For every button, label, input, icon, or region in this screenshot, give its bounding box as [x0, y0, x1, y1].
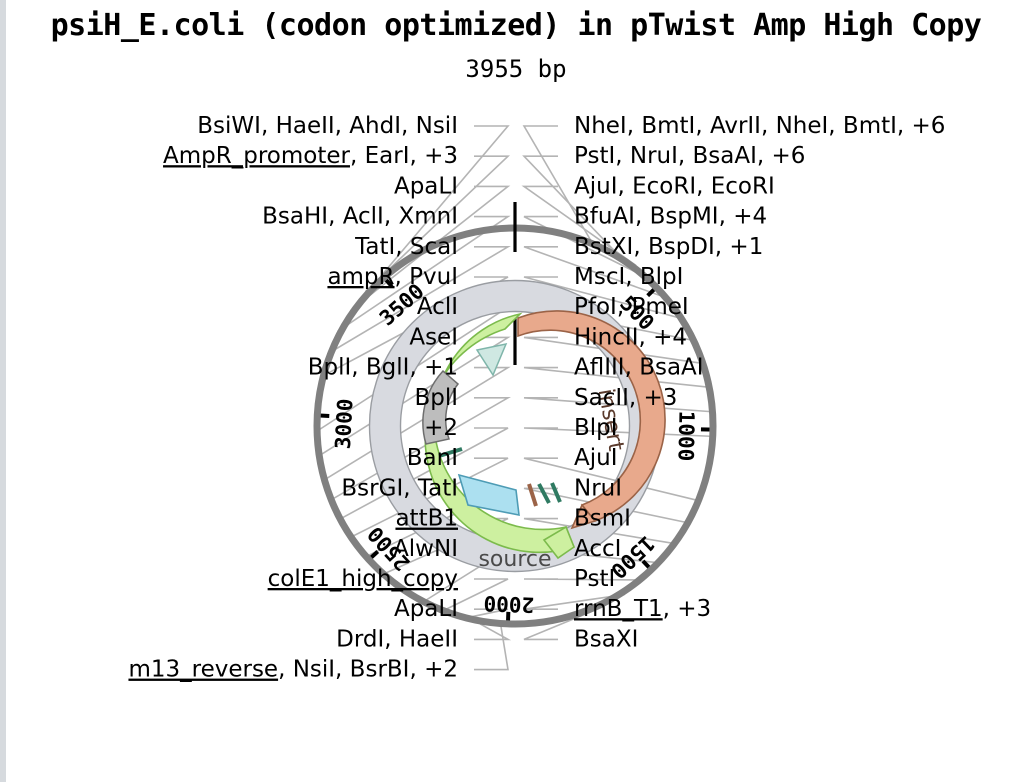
feature-name: attB1	[395, 506, 458, 532]
ampr-promoter-arrow	[477, 344, 506, 375]
enzyme-names: AjuI	[574, 445, 617, 471]
enzyme-names: NheI, BmtI, AvrII, NheI, BmtI, +6	[574, 113, 945, 139]
site-label: ApaLI	[394, 173, 458, 199]
enzyme-names: +2	[424, 415, 458, 441]
site-label: BsmI	[574, 506, 631, 532]
site-label: NruI	[574, 475, 622, 501]
site-label: AccI	[574, 536, 621, 562]
enzyme-names: AseI	[409, 324, 458, 350]
site-label: BlpI	[574, 415, 618, 441]
site-label: HincII, +4	[574, 324, 687, 350]
enzyme-names: PstI	[574, 566, 615, 592]
site-label: AjuI, EcoRI, EcoRI	[574, 173, 775, 199]
leader-line	[474, 627, 508, 670]
enzyme-names: PfoI, PmeI	[574, 294, 689, 320]
site-label: BsaHI, AclI, XmnI	[262, 204, 458, 230]
site-label: BplI, BglI, +1	[308, 355, 458, 381]
feature-name: rrnB_T1	[574, 596, 663, 622]
enzyme-names: , +3	[663, 596, 712, 622]
site-label: attB1	[395, 506, 458, 532]
enzyme-names: BsaXI	[574, 626, 638, 652]
site-label: DrdI, HaeII	[336, 626, 458, 652]
site-label: BsrGI, TatI	[341, 475, 458, 501]
enzyme-names: BsaHI, AclI, XmnI	[262, 204, 458, 230]
enzyme-names: BanI	[407, 445, 458, 471]
enzyme-names: SacII, +3	[574, 385, 677, 411]
enzyme-names: , EarI, +3	[350, 143, 458, 169]
feature-name: AmpR_promoter	[163, 143, 350, 169]
enzyme-names: PstI, NruI, BsaAI, +6	[574, 143, 805, 169]
enzyme-names: BstXI, BspDI, +1	[574, 234, 763, 260]
site-label: AflIII, BsaAI	[574, 355, 704, 381]
tick-label-1000: 1000	[674, 411, 699, 462]
site-label: BplI	[414, 385, 458, 411]
plasmid-diagram: source insert 50010001500200025003000350…	[6, 0, 1020, 782]
site-label: AmpR_promoter, EarI, +3	[163, 143, 458, 169]
feature-name: m13_reverse	[128, 657, 278, 683]
enzyme-names: , NsiI, BsrBI, +2	[278, 657, 458, 683]
site-label: BstXI, BspDI, +1	[574, 234, 763, 260]
enzyme-names: HincII, +4	[574, 324, 687, 350]
enzyme-names: TatI, ScaI	[354, 234, 458, 260]
site-label: AclI	[417, 294, 458, 320]
site-label: BfuAI, BspMI, +4	[574, 204, 767, 230]
enzyme-names: AclI	[417, 294, 458, 320]
site-label: +2	[424, 415, 458, 441]
enzyme-names: BplI, BglI, +1	[308, 355, 458, 381]
enzyme-names: NruI	[574, 475, 622, 501]
feature-name: ampR	[327, 264, 394, 290]
site-label: AjuI	[574, 445, 617, 471]
site-label: BanI	[407, 445, 458, 471]
site-label: BsiWI, HaeII, AhdI, NsiI	[197, 113, 458, 139]
rrnb-mark-b	[552, 483, 560, 502]
site-label: rrnB_T1, +3	[574, 596, 711, 622]
site-label: SacII, +3	[574, 385, 677, 411]
enzyme-names: BfuAI, BspMI, +4	[574, 204, 767, 230]
site-label: PfoI, PmeI	[574, 294, 689, 320]
site-label: AseI	[409, 324, 458, 350]
enzyme-names: AflIII, BsaAI	[574, 355, 704, 381]
feature-name: colE1_high_copy	[268, 566, 458, 592]
m13-reverse-mark	[529, 484, 536, 506]
enzyme-names: AlwNI	[393, 536, 458, 562]
site-label: TatI, ScaI	[354, 234, 458, 260]
tick-label-3000: 3000	[331, 398, 358, 450]
enzyme-names: BplI	[414, 385, 458, 411]
site-label: colE1_high_copy	[268, 566, 458, 592]
enzyme-names: , PvuI	[395, 264, 458, 290]
site-label: PstI	[574, 566, 615, 592]
plasmid-map-page: psiH_E.coli (codon optimized) in pTwist …	[0, 0, 1020, 782]
enzyme-names: BsiWI, HaeII, AhdI, NsiI	[197, 113, 458, 139]
site-label: m13_reverse, NsiI, BsrBI, +2	[128, 657, 458, 683]
enzyme-names: AccI	[574, 536, 621, 562]
site-label: BsaXI	[574, 626, 638, 652]
site-label: ApaLI	[394, 596, 458, 622]
enzyme-names: MscI, BlpI	[574, 264, 683, 290]
enzyme-names: DrdI, HaeII	[336, 626, 458, 652]
enzyme-names: BsrGI, TatI	[341, 475, 458, 501]
site-label: ampR, PvuI	[327, 264, 458, 290]
enzyme-names: BlpI	[574, 415, 618, 441]
site-label: AlwNI	[393, 536, 458, 562]
enzyme-names: ApaLI	[394, 173, 458, 199]
enzyme-names: BsmI	[574, 506, 631, 532]
site-label: PstI, NruI, BsaAI, +6	[574, 143, 805, 169]
source-ring-label: source	[478, 547, 551, 572]
site-label: NheI, BmtI, AvrII, NheI, BmtI, +6	[574, 113, 945, 139]
site-label: MscI, BlpI	[574, 264, 683, 290]
enzyme-names: AjuI, EcoRI, EcoRI	[574, 173, 775, 199]
tick-label-2000: 2000	[483, 591, 534, 617]
enzyme-names: ApaLI	[394, 596, 458, 622]
